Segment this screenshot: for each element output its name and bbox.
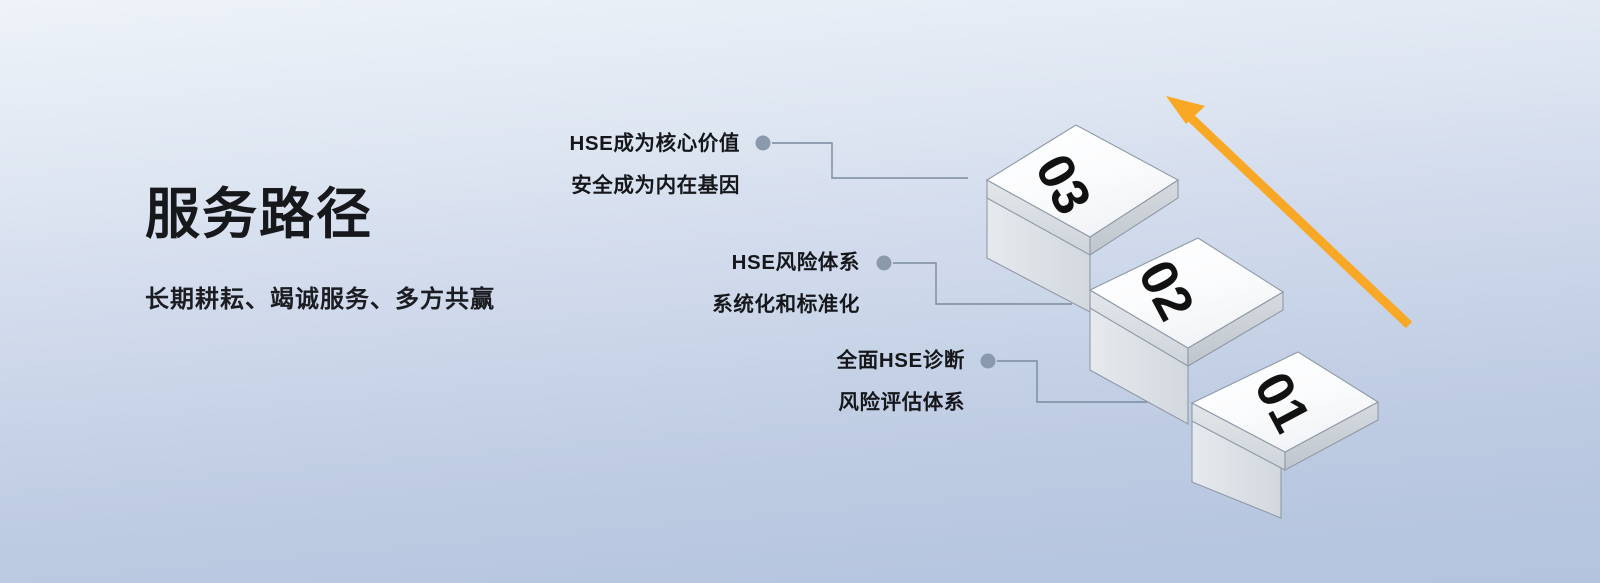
connector-dot-01: [981, 354, 996, 369]
connector-dot-02: [877, 256, 892, 271]
step-label-02: HSE风险体系 系统化和标准化: [420, 253, 860, 315]
step-label-01-line1: 全面HSE诊断: [837, 349, 965, 372]
connector-line-03: [756, 136, 969, 179]
step-label-03-line1: HSE成为核心价值: [569, 132, 740, 155]
slide-canvas: 服务路径 长期耕耘、竭诚服务、多方共赢: [0, 0, 1600, 583]
step-label-01-line2: 风险评估体系: [525, 372, 965, 414]
connector-dot-03: [756, 136, 771, 151]
step-label-02-line2: 系统化和标准化: [420, 274, 860, 316]
step-label-03: HSE成为核心价值 安全成为内在基因: [300, 134, 740, 196]
step-block-01[interactable]: 01: [1192, 352, 1378, 518]
step-label-03-line2: 安全成为内在基因: [300, 155, 740, 197]
step-label-02-line1: HSE风险体系: [732, 251, 860, 274]
step-label-01: 全面HSE诊断 风险评估体系: [525, 351, 965, 413]
